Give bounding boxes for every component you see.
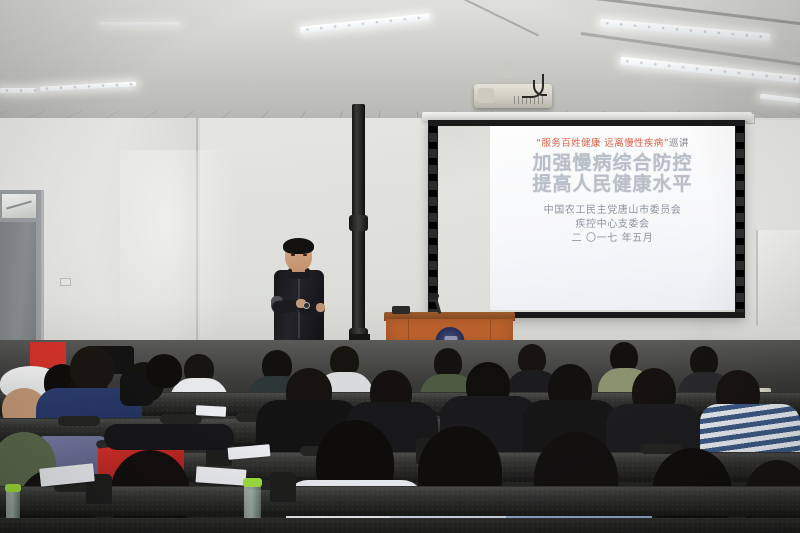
- slide-kicker-tail: 巡讲: [669, 138, 689, 149]
- slide-headline-line1: 加强慢病综合防控: [532, 153, 692, 174]
- wall-outlet[interactable]: [60, 278, 71, 286]
- bottle-cap-icon: [5, 484, 21, 492]
- dark-jacket-on-desk: [104, 424, 234, 450]
- projection-screen: “服务百姓健康 远离慢性疾病”巡讲 加强慢病综合防控 提高人民健康水平 中国农工…: [428, 120, 745, 318]
- seat-armrest: [58, 416, 100, 426]
- desk-row-front: [0, 518, 800, 533]
- screen-edge-tabs: [736, 126, 744, 312]
- pipe-joint: [349, 215, 368, 231]
- whiteboard-edge: [756, 230, 800, 326]
- slide-org-line2: 疾控中心支委会: [575, 218, 649, 232]
- transom-window: [0, 192, 38, 220]
- paper-handout: [196, 466, 247, 485]
- projector-lens-icon: [478, 88, 494, 103]
- water-bottle[interactable]: [6, 490, 20, 520]
- audience-head: [146, 354, 182, 388]
- ceiling-light-fixture: [0, 88, 36, 93]
- seat-armrest: [160, 414, 202, 424]
- speaker-eye: [291, 254, 295, 256]
- wristwatch-icon: [303, 302, 310, 309]
- speaker-hair: [283, 238, 314, 254]
- bottle-cap-icon: [243, 478, 262, 487]
- seat-back: [270, 472, 296, 502]
- slide-org-line1: 中国农工民主党唐山市委员会: [544, 204, 682, 218]
- projected-slide: “服务百姓健康 远离慢性疾病”巡讲 加强慢病综合防控 提高人民健康水平 中国农工…: [490, 126, 735, 310]
- water-bottle[interactable]: [244, 484, 261, 520]
- ceiling-light-fixture: [100, 22, 180, 26]
- screen-surface: “服务百姓健康 远离慢性疾病”巡讲 加强慢病综合防控 提高人民健康水平 中国农工…: [438, 126, 735, 312]
- audience-head: [70, 346, 114, 390]
- slide-kicker-line: “服务百姓健康 远离慢性疾病”巡讲: [536, 135, 689, 149]
- speaker-eye: [303, 254, 307, 256]
- speaker-hand-right: [316, 303, 325, 312]
- screen-edge-tabs: [429, 126, 437, 312]
- slide-date-line: 二 〇一七 年五月: [572, 232, 654, 246]
- desk-row: [0, 486, 800, 516]
- microphone-icon: [428, 293, 439, 299]
- lecture-hall-photo: “服务百姓健康 远离慢性疾病”巡讲 加强慢病综合防控 提高人民健康水平 中国农工…: [0, 0, 800, 533]
- slide-headline-line2: 提高人民健康水平: [532, 174, 692, 195]
- slide-kicker-quoted: “服务百姓健康 远离慢性疾病”: [536, 138, 669, 149]
- paper-handout: [196, 405, 226, 417]
- podium-device[interactable]: [392, 306, 410, 314]
- audience-area: [0, 340, 800, 533]
